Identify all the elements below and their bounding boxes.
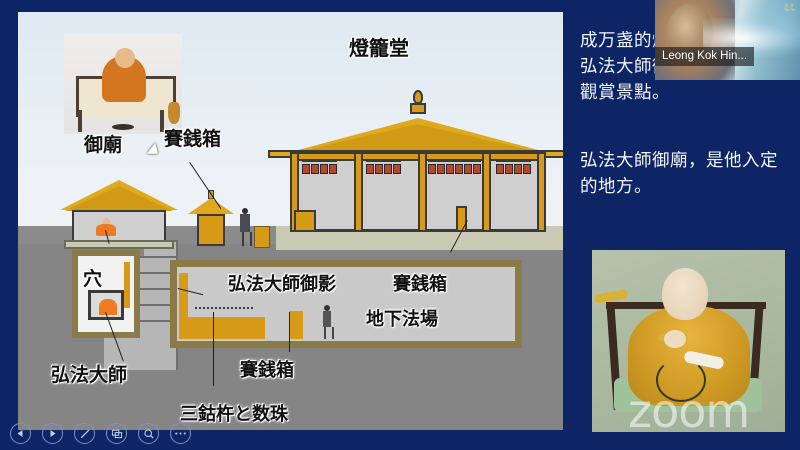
monk-head xyxy=(115,48,135,68)
chamber-visitor xyxy=(323,305,331,339)
lantern-row-3 xyxy=(428,164,481,176)
presentation-toolbar xyxy=(10,423,191,444)
zoom-shared-screen: 御廟 賽銭箱 燈籠堂 穴 弘法大師 弘法大師御影 賽銭箱 地下法場 賽銭箱 三鈷… xyxy=(0,0,800,450)
triangle-left-icon xyxy=(16,429,25,438)
lantern-icon xyxy=(496,164,504,174)
lantern-icon xyxy=(473,164,481,174)
label-lantern-hall: 燈籠堂 xyxy=(349,32,409,61)
chamber-visitor-legs xyxy=(324,327,334,339)
vase-shape xyxy=(168,102,180,124)
lantern-icon xyxy=(393,164,401,174)
pen-icon xyxy=(79,428,91,440)
monk-statue-photo xyxy=(64,34,182,134)
lantern-row-4 xyxy=(496,164,531,176)
lantern-hall-building xyxy=(268,106,563,232)
label-kobo-daishi: 弘法大師 xyxy=(51,360,127,387)
leader-line-vajra xyxy=(213,312,214,386)
offertory-shrine xyxy=(188,194,234,246)
lantern-icon xyxy=(505,164,513,174)
triangle-right-icon xyxy=(48,429,57,438)
label-mausoleum: 御廟 xyxy=(84,130,122,157)
painting-hand xyxy=(664,330,686,348)
mausoleum-body xyxy=(72,210,166,242)
leader-line-offertory-lower xyxy=(289,312,290,352)
label-offertory-box-lower: 賽銭箱 xyxy=(240,356,294,382)
lantern-row-1 xyxy=(302,164,337,176)
lantern-icon xyxy=(320,164,328,174)
label-vajra-and-beads: 三鈷杵と数珠 xyxy=(180,400,288,426)
lantern-icon xyxy=(375,164,383,174)
kobo-daishi-figure xyxy=(99,299,117,315)
label-offertory-underground: 賽銭箱 xyxy=(393,270,447,296)
mausoleum-roof-inner xyxy=(65,186,173,211)
chamber-offertory-box xyxy=(289,311,303,339)
next-slide-button[interactable] xyxy=(42,423,63,444)
bench-leg-left xyxy=(78,110,82,132)
underground-hall-chamber xyxy=(170,260,522,348)
label-underground-hall: 地下法場 xyxy=(366,305,438,331)
presentation-slide: 御廟 賽銭箱 燈籠堂 穴 弘法大師 弘法大師御影 賽銭箱 地下法場 賽銭箱 三鈷… xyxy=(0,0,570,450)
label-offertory-box-upper: 賽銭箱 xyxy=(164,124,221,151)
label-cave: 穴 xyxy=(83,264,102,291)
lantern-icon xyxy=(311,164,319,174)
painting-head xyxy=(662,268,708,320)
label-kobo-daishi-portrait: 弘法大師御影 xyxy=(228,270,336,296)
finial-base xyxy=(410,103,426,114)
cave-pillar xyxy=(124,262,130,308)
more-options-button[interactable] xyxy=(170,423,191,444)
slide-control-button[interactable] xyxy=(106,423,127,444)
narration-paragraph-2: 弘法大師御廟，是他入定的地方。 xyxy=(580,148,790,200)
finial-bulb xyxy=(413,90,423,104)
participant-video-thumbnail[interactable]: 慈濟 Tzu Chi Leong Kok Hin... xyxy=(655,0,800,80)
hall-column-5 xyxy=(537,152,546,232)
mausoleum-building xyxy=(60,180,178,248)
kobo-daishi-painting: zoom xyxy=(580,250,795,432)
logo-line-2: Tzu Chi xyxy=(784,8,795,13)
vajra-beads-shape xyxy=(195,307,253,317)
organization-logo: 慈濟 Tzu Chi xyxy=(784,3,795,13)
annotate-button[interactable] xyxy=(74,423,95,444)
painting-mat-right xyxy=(785,250,795,432)
temple-cross-section-diagram: 御廟 賽銭箱 燈籠堂 穴 弘法大師 弘法大師御影 賽銭箱 地下法場 賽銭箱 三鈷… xyxy=(18,12,563,430)
hall-column-2 xyxy=(354,152,363,232)
visitor-body xyxy=(240,214,250,232)
painting-mat-left xyxy=(580,250,592,432)
hall-column-4 xyxy=(482,152,491,232)
chamber-altar xyxy=(179,317,265,339)
lantern-icon xyxy=(446,164,454,174)
hall-door-left xyxy=(294,210,316,232)
lantern-row-2 xyxy=(366,164,401,176)
magnifier-icon xyxy=(143,428,155,440)
ellipsis-icon xyxy=(174,431,187,436)
mausoleum-base xyxy=(64,240,174,249)
lantern-icon xyxy=(384,164,392,174)
lantern-icon xyxy=(455,164,463,174)
lantern-icon xyxy=(514,164,522,174)
chamber-visitor-body xyxy=(323,311,331,327)
previous-slide-button[interactable] xyxy=(10,423,31,444)
chamber-pillar xyxy=(179,273,188,317)
slides-icon xyxy=(111,428,123,440)
visitor-legs xyxy=(242,232,252,246)
hall-finial xyxy=(410,90,426,120)
lantern-icon xyxy=(302,164,310,174)
lantern-icon xyxy=(523,164,531,174)
shrine-roof xyxy=(188,198,234,214)
lantern-icon xyxy=(428,164,436,174)
lantern-icon xyxy=(329,164,337,174)
zoom-watermark: zoom xyxy=(628,384,749,432)
zoom-level-button[interactable] xyxy=(138,423,159,444)
lantern-icon xyxy=(437,164,445,174)
shrine-body xyxy=(197,214,225,246)
lantern-icon xyxy=(366,164,374,174)
participant-name-label: Leong Kok Hin... xyxy=(655,47,754,66)
lantern-icon xyxy=(464,164,472,174)
hall-column-3 xyxy=(418,152,427,232)
